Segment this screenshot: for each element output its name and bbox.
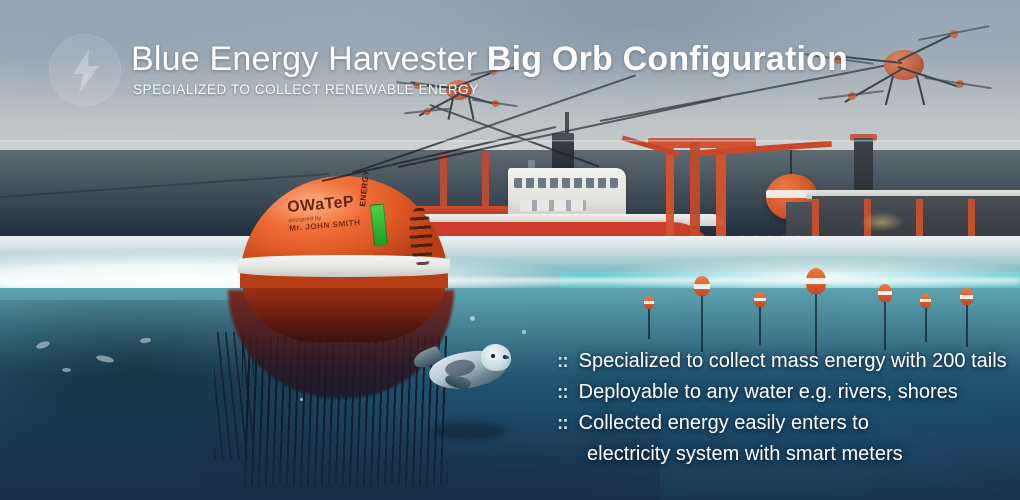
feature-continuation-plain: electricity system: [587, 443, 745, 465]
title-bold-part: Big Orb Configuration: [487, 40, 848, 78]
poster-banner: OWaTeP designed by Mr. JOHN SMITH ENERGY: [0, 0, 1020, 500]
seal-shadow: [432, 422, 506, 440]
bullet-marker-icon: ::: [557, 411, 568, 437]
feature-text: Collected energy easily enters to: [579, 409, 869, 437]
bullet-marker-icon: ::: [557, 380, 568, 406]
orb-branding: OWaTeP designed by Mr. JOHN SMITH: [287, 193, 361, 233]
bubble: [300, 398, 303, 401]
bubble: [470, 316, 475, 321]
seal-nose: [505, 356, 509, 359]
list-item: :: Collected energy easily enters to: [557, 409, 1007, 437]
feature-text: Specialized to collect mass energy with …: [579, 347, 1007, 375]
feature-text: Deployable to any water e.g. rivers, sho…: [579, 378, 958, 406]
page-subtitle: SPECIALIZED TO COLLECT RENEWABLE ENERGY: [133, 82, 848, 97]
bullet-marker-icon: ::: [557, 349, 568, 375]
page-title: Blue Energy Harvester Big Orb Configurat…: [131, 38, 848, 80]
feature-continuation-bold: with smart meters: [745, 443, 903, 465]
list-item: :: Deployable to any water e.g. rivers, …: [557, 378, 1007, 406]
title-light-part: Blue Energy Harvester: [131, 40, 477, 78]
list-item: :: Specialized to collect mass energy wi…: [557, 347, 1007, 375]
header-divider: [0, 140, 1020, 142]
surf-foam-line: [0, 278, 1020, 288]
bubble: [522, 330, 526, 334]
ship-bridge-windows: [514, 178, 618, 188]
header-title-group: Blue Energy Harvester Big Orb Configurat…: [131, 38, 848, 97]
feature-list: :: Specialized to collect mass energy wi…: [557, 347, 1007, 468]
warehouse-interior-light: [860, 212, 904, 232]
ship-lower-windows: [520, 200, 586, 211]
seal-eye: [491, 354, 495, 358]
lightning-bolt-icon: [49, 34, 121, 106]
feature-text-continuation: electricity system with smart meters: [587, 440, 1007, 468]
floating-debris: [62, 368, 71, 372]
